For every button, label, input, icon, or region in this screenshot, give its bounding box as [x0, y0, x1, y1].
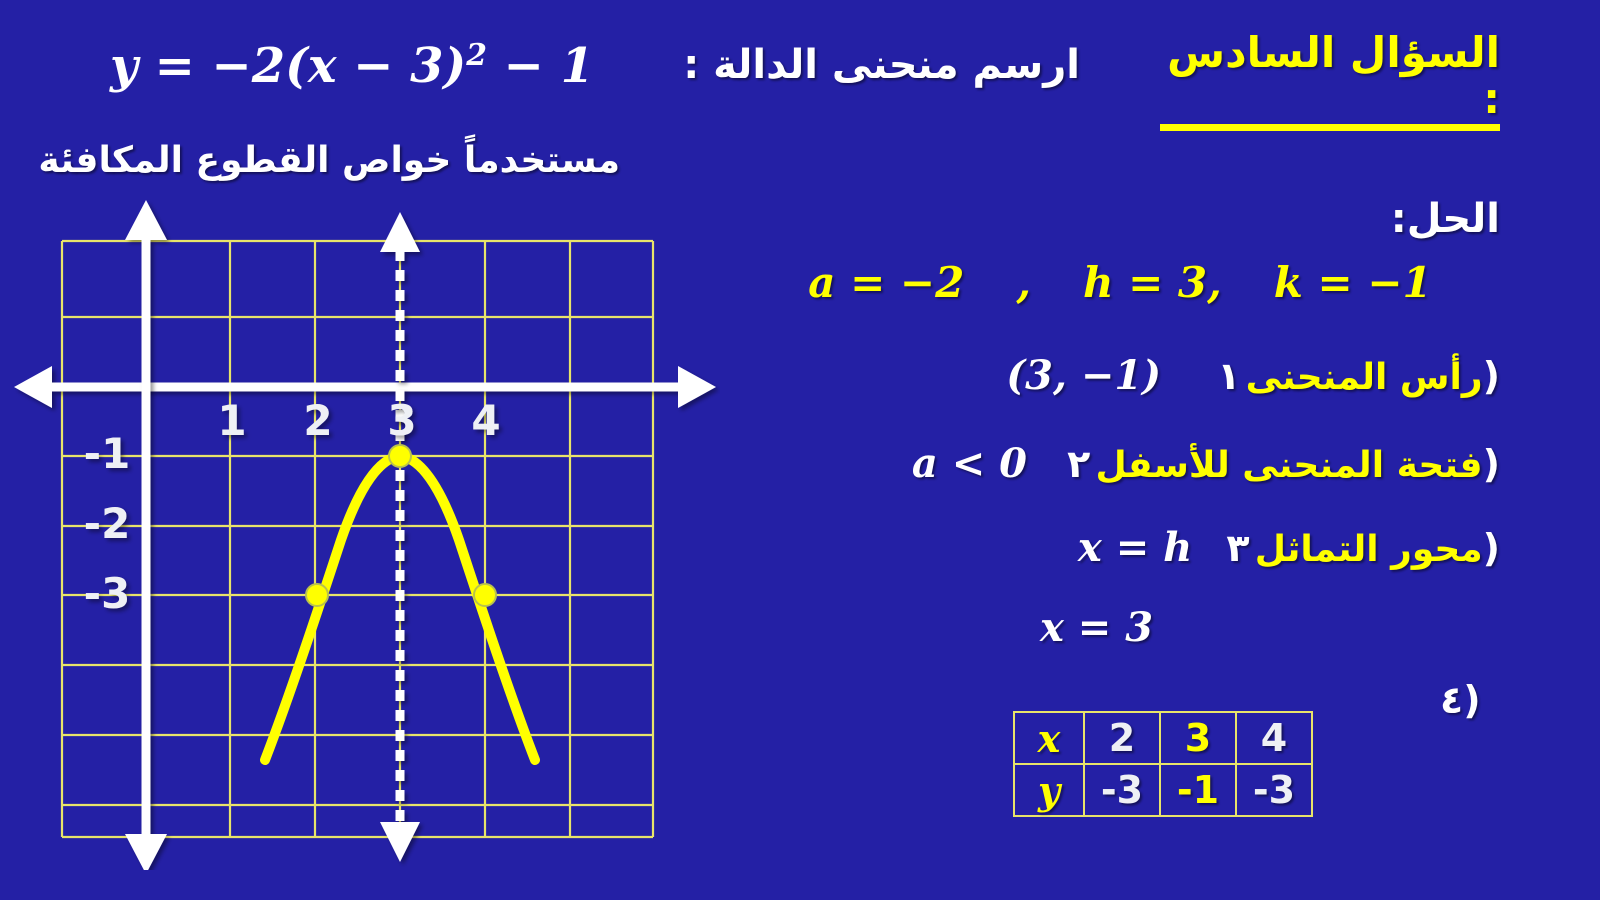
vertex-value: (3, −1)	[1006, 352, 1161, 399]
param-comma-2: ,	[1207, 258, 1222, 307]
table-cell-x-1: 3	[1160, 712, 1236, 764]
parabola-graph: 1 2 3 4 -1 -2 -3	[0, 190, 720, 870]
param-h: h = 3	[1083, 258, 1207, 307]
subprompt-text: مستخدماً خواص القطوع المكافئة	[0, 140, 620, 181]
param-comma-1: ,	[1016, 258, 1031, 307]
table-cell-y-1: -1	[1160, 764, 1236, 816]
axis-result-value: x = 3	[1040, 604, 1153, 651]
x-axis	[14, 366, 716, 408]
y-axis	[125, 200, 167, 870]
y-tick-minus1: -1	[84, 429, 131, 478]
solution-item-opening: a < 0 فتحة المنحنى للأسفل ٢)	[880, 440, 1500, 487]
x-tick-labels: 1 2 3 4	[217, 396, 500, 445]
x-tick-1: 1	[217, 396, 246, 445]
x-tick-3: 3	[387, 396, 416, 445]
opening-value: a < 0	[912, 440, 1027, 487]
axis-of-symmetry-result: x = 3	[1040, 604, 1500, 651]
solution-label: الحل:	[1380, 196, 1500, 242]
page-title-text: السؤال السادس :	[1160, 30, 1500, 131]
y-tick-labels: -1 -2 -3	[84, 429, 131, 618]
equation-exponent: 2	[466, 38, 487, 73]
grid-lines	[62, 241, 653, 837]
page-title: السؤال السادس :	[1160, 30, 1500, 131]
vertex-label: رأس المنحنى	[1246, 357, 1483, 398]
opening-label: فتحة المنحنى للأسفل	[1095, 445, 1482, 486]
table-row-y: y -3 -1 -3	[1014, 764, 1312, 816]
point-right	[474, 584, 496, 606]
table-cell-x-2: 4	[1236, 712, 1312, 764]
equation-lhs: y = −2(x − 3)	[110, 38, 466, 94]
table-cell-y-2: -3	[1236, 764, 1312, 816]
y-tick-minus3: -3	[84, 569, 131, 618]
table-cell-y-0: -3	[1084, 764, 1160, 816]
prompt-text: ارسم منحنى الدالة :	[640, 42, 1080, 88]
solution-item-symmetry: x = h محور التماثل ٣)	[880, 524, 1500, 571]
x-tick-2: 2	[303, 396, 332, 445]
table-header-y: y	[1014, 764, 1084, 816]
table-header-x: x	[1014, 712, 1084, 764]
x-tick-4: 4	[471, 396, 500, 445]
y-tick-minus2: -2	[84, 499, 131, 548]
solution-item-vertex: (3, −1) رأس المنحنى ١)	[880, 352, 1500, 399]
symmetry-value: x = h	[1078, 524, 1192, 571]
param-a: a = −2	[808, 258, 964, 307]
table-cell-x-0: 2	[1084, 712, 1160, 764]
symmetry-label: محور التماثل	[1255, 529, 1483, 570]
param-k: k = −1	[1274, 258, 1432, 307]
parameter-values: a = −2,h = 3,k = −1	[740, 258, 1500, 307]
function-equation: y = −2(x − 3)2 − 1	[110, 38, 594, 94]
equation-rhs: − 1	[487, 38, 594, 94]
point-left	[306, 584, 328, 606]
table-row-x: x 2 3 4	[1014, 712, 1312, 764]
xy-value-table: x 2 3 4 y -3 -1 -3	[1013, 711, 1313, 817]
point-vertex	[389, 445, 411, 467]
table-item-number: ٤)	[1440, 678, 1481, 722]
